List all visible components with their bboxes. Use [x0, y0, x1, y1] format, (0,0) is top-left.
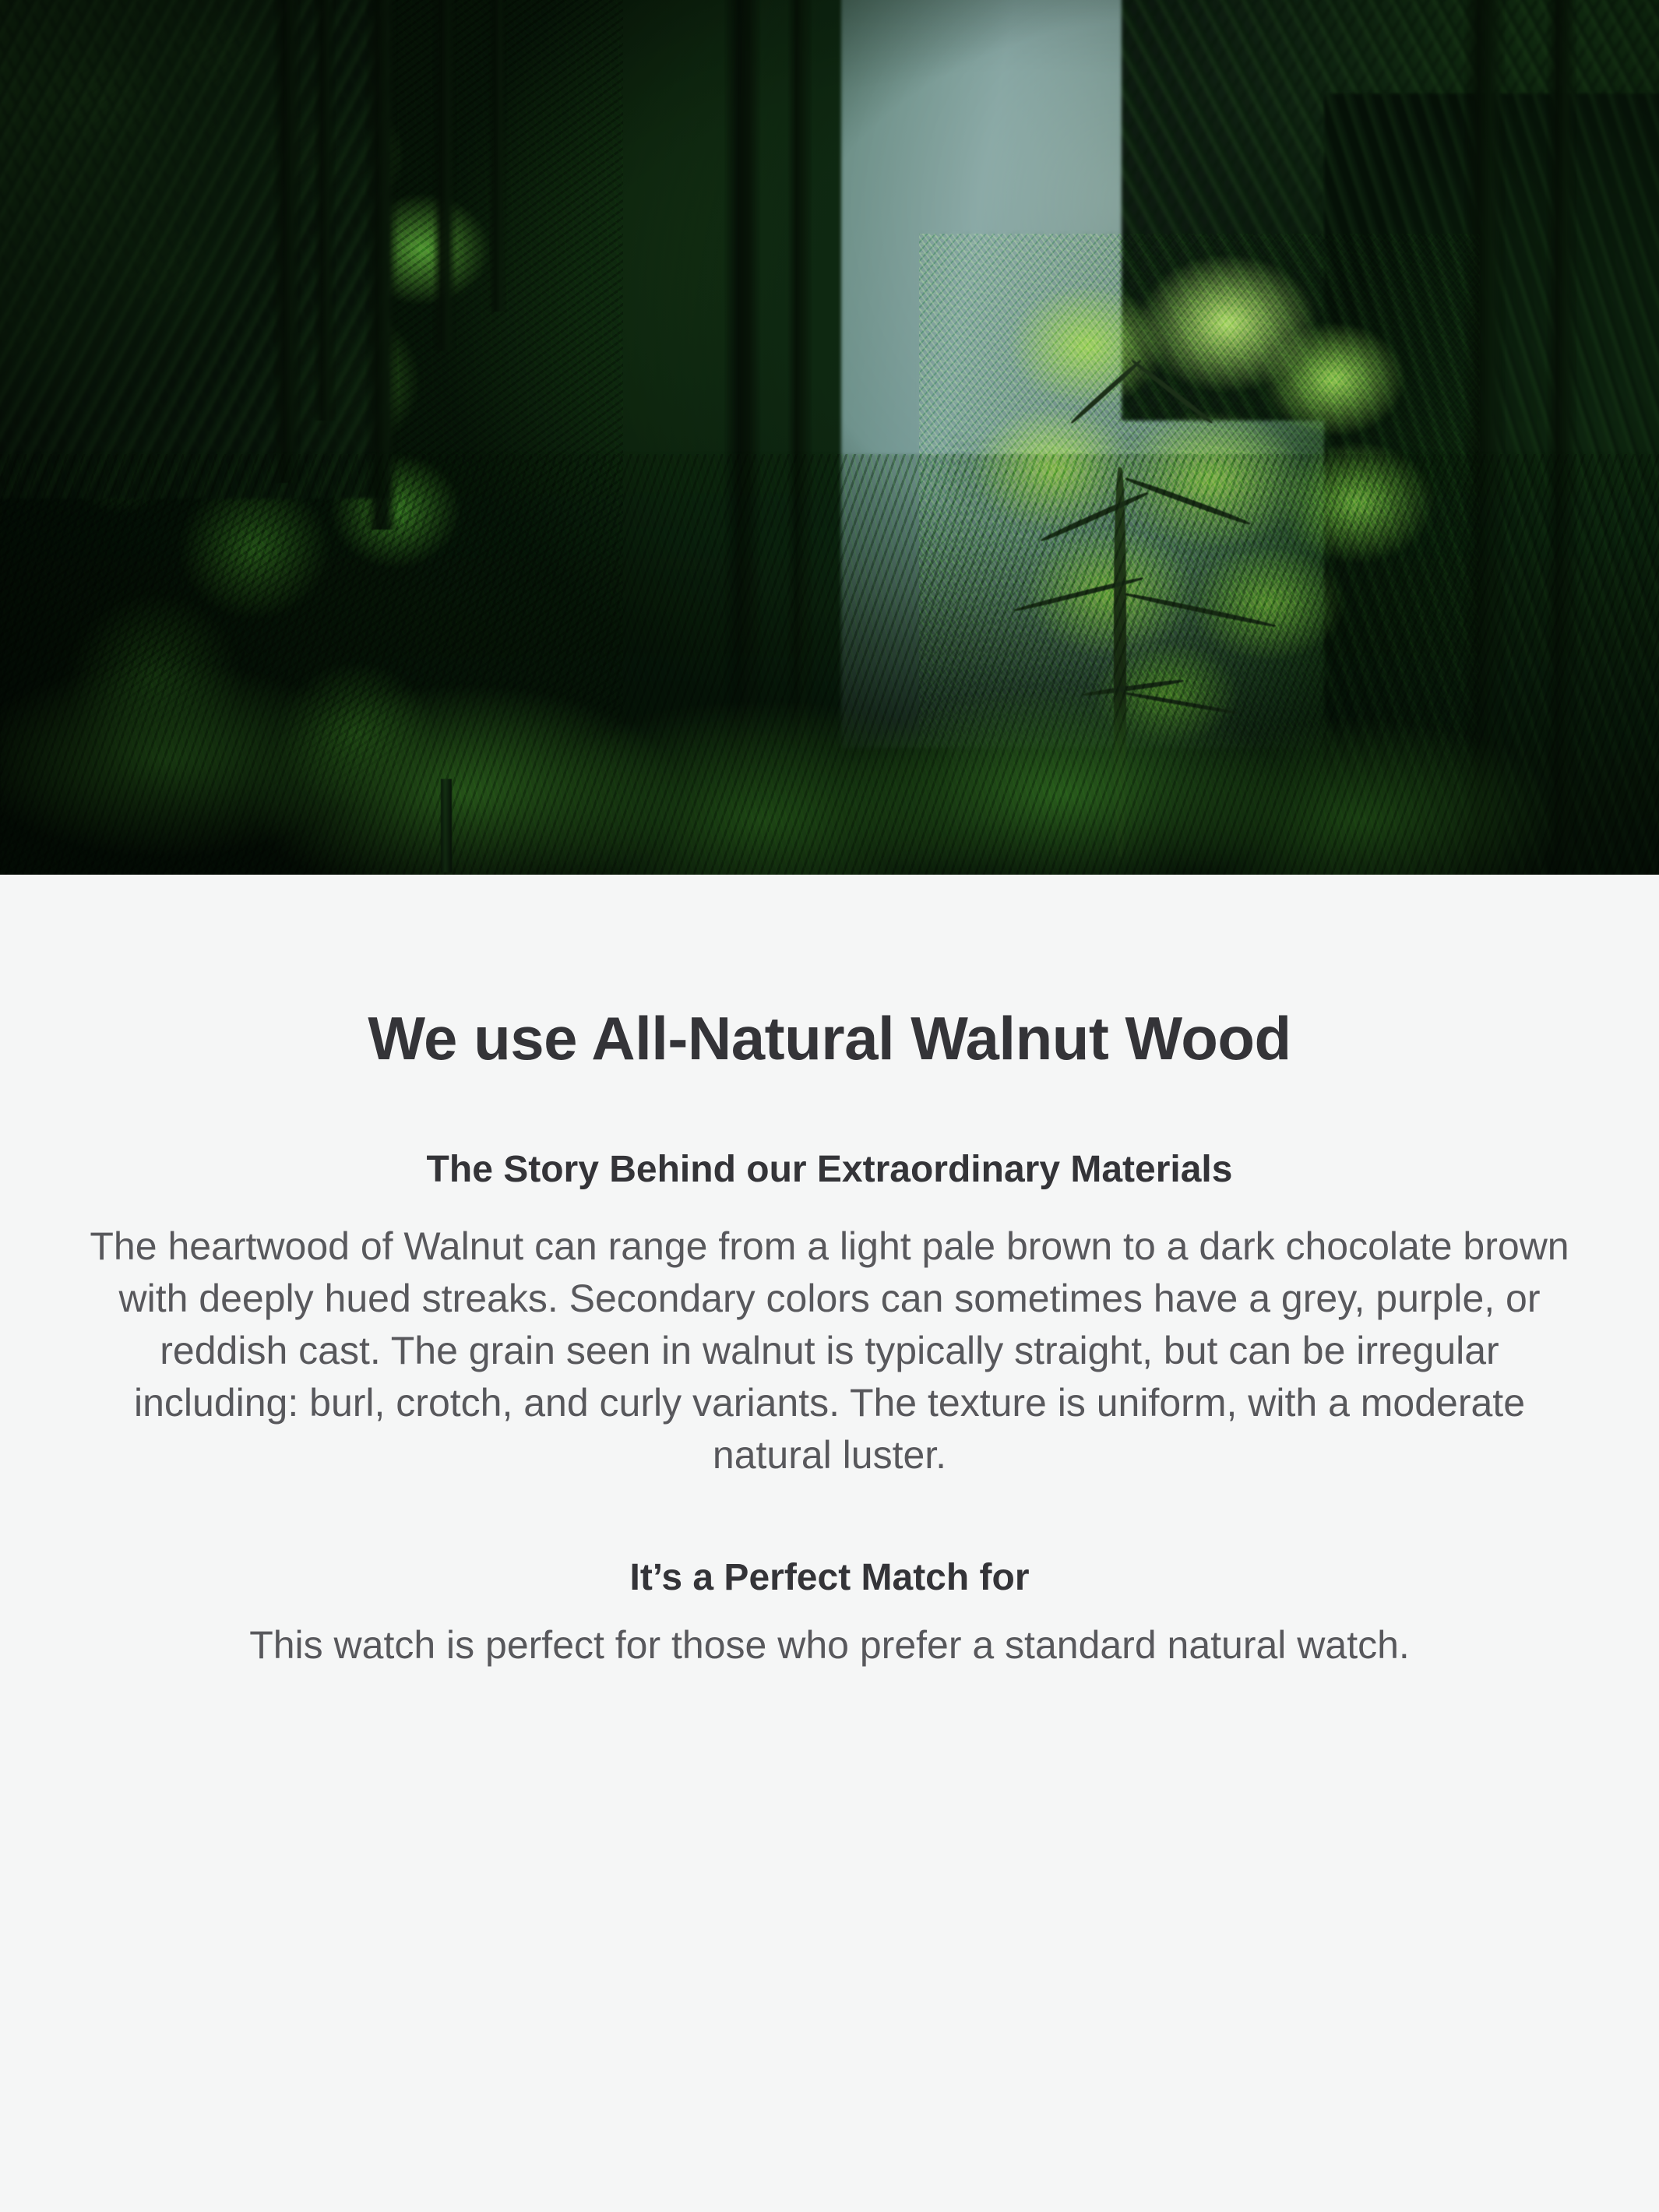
section-body-story: The heartwood of Walnut can range from a… [90, 1220, 1569, 1481]
hero-forest-image [0, 0, 1659, 875]
page-title: We use All-Natural Walnut Wood [0, 875, 1659, 1074]
section-heading-match: It’s a Perfect Match for [0, 1481, 1659, 1599]
content-section: We use All-Natural Walnut Wood The Story… [0, 875, 1659, 1671]
hero-illustration [0, 0, 1659, 875]
section-body-match: This watch is perfect for those who pref… [90, 1619, 1569, 1671]
image-vignette [0, 0, 1659, 875]
section-heading-story: The Story Behind our Extraordinary Mater… [0, 1074, 1659, 1191]
product-material-page: We use All-Natural Walnut Wood The Story… [0, 0, 1659, 2212]
